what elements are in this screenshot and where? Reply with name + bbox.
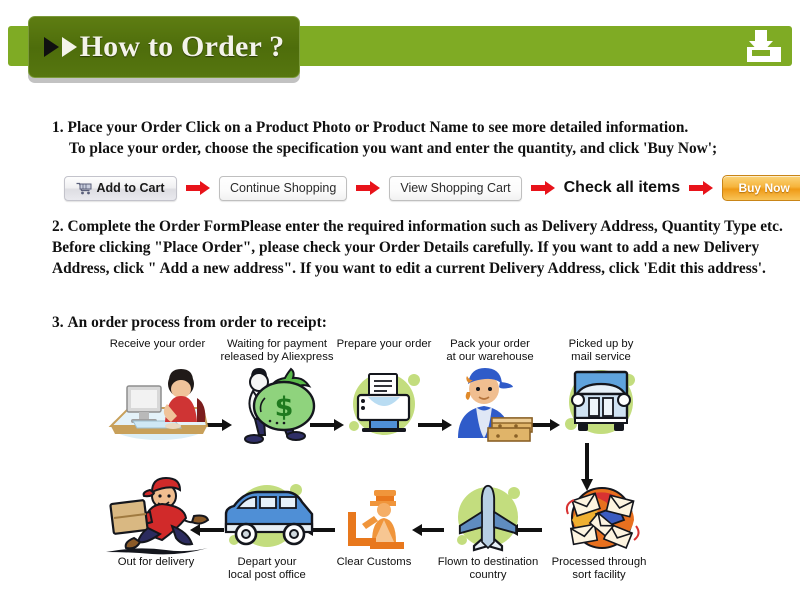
page-title: How to Order ? [29, 17, 299, 77]
flow-step-out-for-delivery: Out for delivery [92, 556, 220, 569]
person-at-computer-icon [103, 364, 215, 447]
step-3: 3.An order process from order to receipt… [52, 312, 552, 333]
warehouse-worker-icon [446, 362, 538, 447]
triangle-right-icon [44, 37, 59, 57]
continue-shopping-button[interactable]: Continue Shopping [219, 176, 347, 201]
flow-step-flown-to-destination: Flown to destination country [425, 556, 551, 582]
mail-sorting-icon [560, 480, 644, 561]
shopping-cart-icon [76, 182, 92, 195]
printer-icon [342, 364, 426, 445]
flow-step-depart-post-office: Depart your local post office [206, 556, 328, 582]
flow-step-label: Waiting for payment released by Aliexpre… [213, 338, 341, 364]
step-1: 1.Place your Order Click on a Product Ph… [52, 117, 792, 159]
view-shopping-cart-button[interactable]: View Shopping Cart [389, 176, 521, 201]
mail-truck-icon [556, 362, 646, 445]
step-2: 2.Complete the Order FormPlease enter th… [52, 216, 792, 279]
flow-step-sort-facility: Processed through sort facility [538, 556, 660, 582]
page-header-banner: How to Order ? [0, 8, 800, 70]
flow-step-label: Depart your local post office [206, 556, 328, 582]
step-1-line-2: To place your order, choose the specific… [69, 138, 792, 159]
step-2-text: Complete the Order FormPlease enter the … [52, 218, 783, 277]
flow-connector-arrow [412, 523, 444, 537]
step-3-text: An order process from order to receipt: [68, 314, 327, 331]
step-1-line-1: Place your Order Click on a Product Phot… [68, 119, 689, 136]
view-shopping-cart-label: View Shopping Cart [400, 181, 510, 195]
flow-step-label: Picked up by mail service [545, 338, 657, 364]
red-arrow-right-icon [689, 181, 713, 195]
buy-now-button[interactable]: Buy Now [722, 175, 800, 201]
add-to-cart-label: Add to Cart [96, 181, 164, 195]
flow-step-waiting-payment: Waiting for payment released by Aliexpre… [213, 338, 341, 364]
triangle-right-icon [62, 37, 77, 57]
order-process-flowchart: Receive your order Waiting for [0, 338, 800, 605]
check-all-items-label: Check all items [564, 179, 681, 197]
flow-step-picked-up-mail: Picked up by mail service [545, 338, 657, 364]
red-arrow-right-icon [356, 181, 380, 195]
header-title-plate: How to Order ? [28, 16, 300, 78]
customs-officer-icon [340, 484, 412, 559]
flow-step-label: Receive your order [95, 338, 220, 351]
step-3-number: 3. [52, 314, 64, 331]
order-button-flow: Add to Cart Continue Shopping View Shopp… [64, 174, 800, 202]
step-2-number: 2. [52, 218, 64, 235]
flow-step-prepare-order: Prepare your order [329, 338, 439, 351]
continue-shopping-label: Continue Shopping [230, 181, 336, 195]
red-arrow-right-icon [186, 181, 210, 195]
buy-now-label: Buy Now [738, 181, 789, 195]
delivery-van-icon [214, 478, 320, 559]
flow-step-label: Prepare your order [329, 338, 439, 351]
step-1-number: 1. [52, 119, 64, 136]
download-icon[interactable] [746, 30, 782, 63]
flow-step-receive-order: Receive your order [95, 338, 220, 351]
delivery-man-running-icon [98, 476, 216, 561]
red-arrow-right-icon [531, 181, 555, 195]
flow-step-label: Pack your order at our warehouse [428, 338, 552, 364]
flow-step-clear-customs: Clear Customs [324, 556, 424, 569]
page-title-text: How to Order ? [80, 30, 285, 64]
flow-step-pack-order: Pack your order at our warehouse [428, 338, 552, 364]
money-bag-icon: $ [237, 364, 321, 449]
airplane-icon [447, 480, 529, 559]
svg-text:$: $ [275, 392, 294, 423]
flow-step-label: Flown to destination country [425, 556, 551, 582]
add-to-cart-button[interactable]: Add to Cart [64, 176, 177, 201]
